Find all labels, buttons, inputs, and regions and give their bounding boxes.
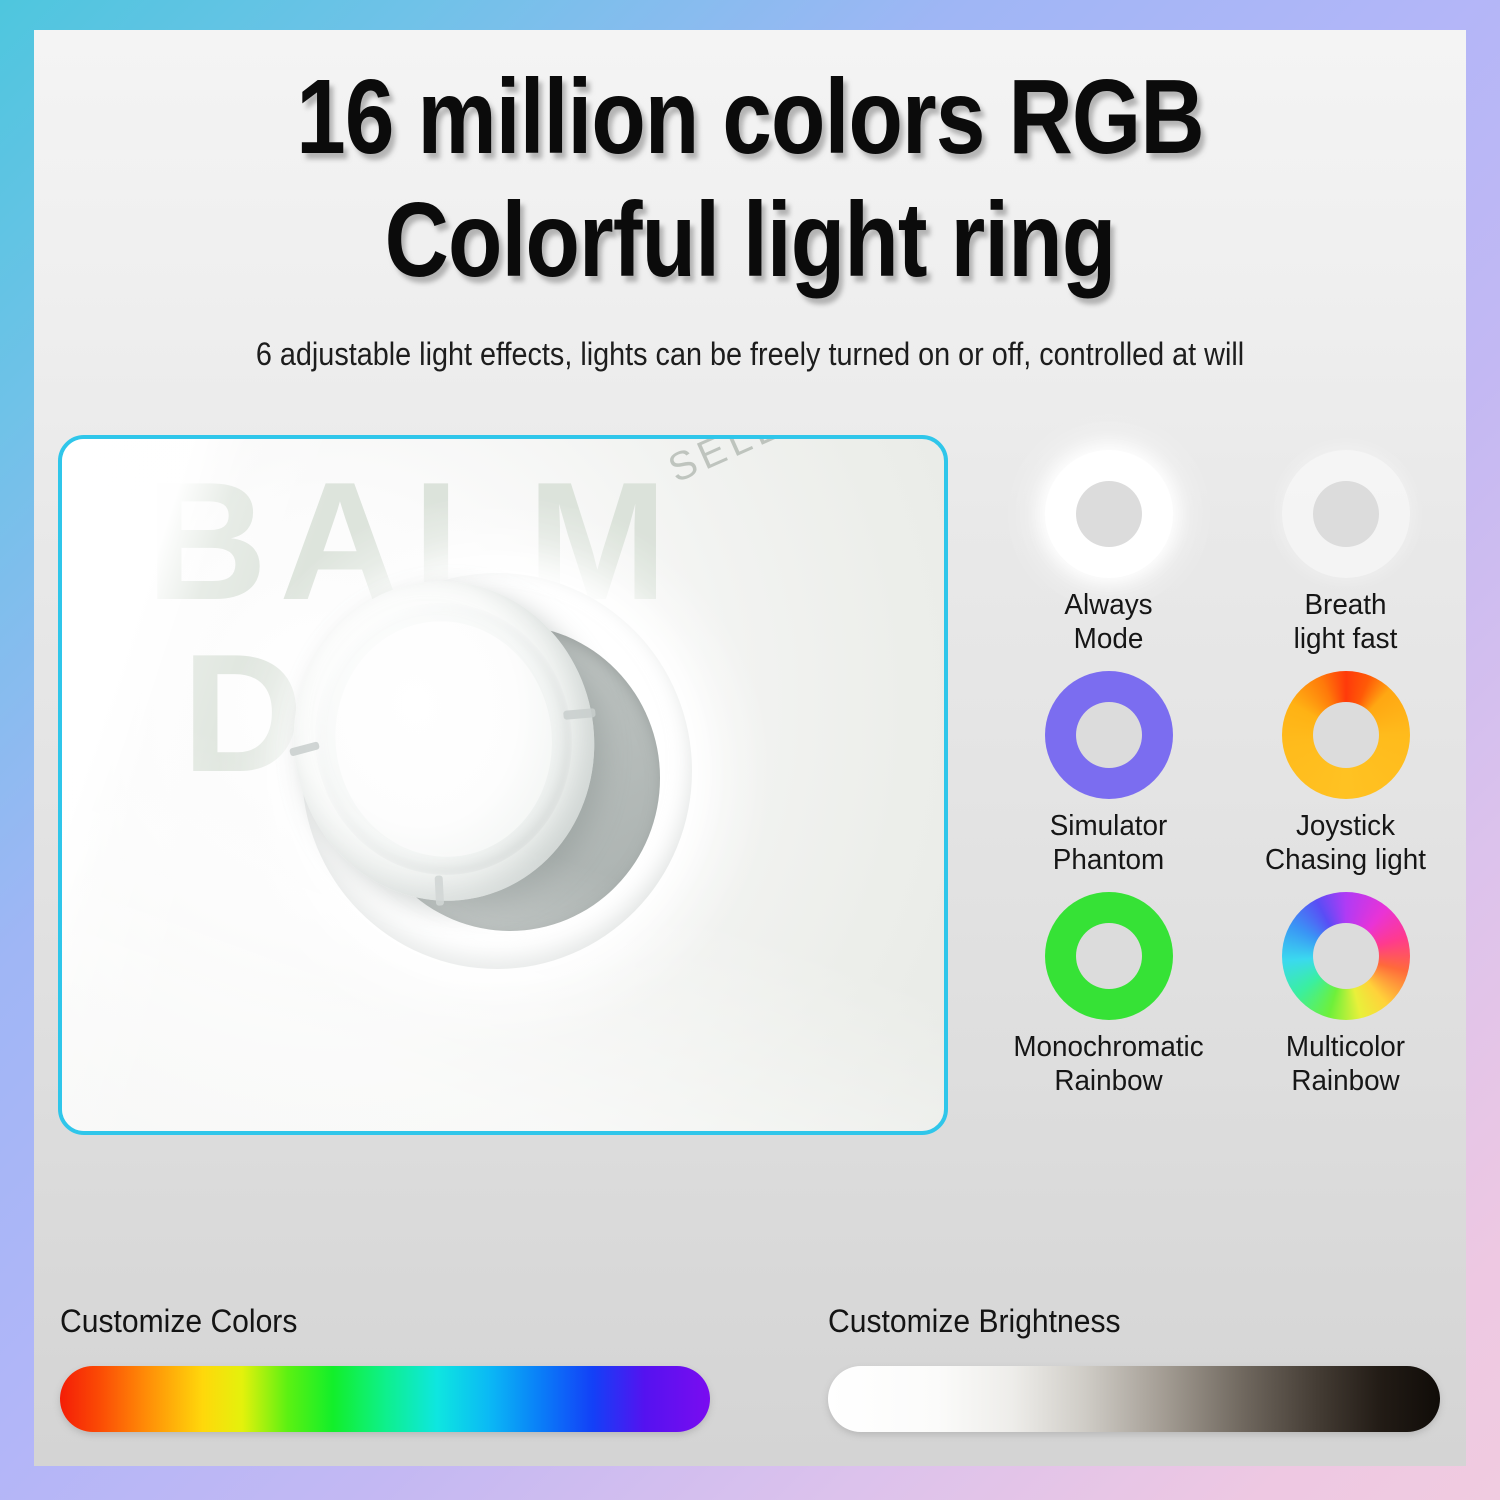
joystick-chasing-ring-icon [1282, 671, 1410, 799]
joystick-light-ring-photo [280, 557, 710, 987]
gradient-frame: 16 million colors RGB Colorful light rin… [0, 0, 1500, 1500]
mode-multicolor-rainbow[interactable]: Multicolor Rainbow [1229, 883, 1462, 1098]
customization-sliders: Customize Colors Customize Brightness [34, 1303, 1466, 1432]
always-ring-box [1036, 441, 1182, 587]
product-feature-card: 16 million colors RGB Colorful light rin… [34, 30, 1466, 1466]
mono-ring-box [1036, 883, 1182, 1029]
mode-breath-label-2: light fast [1234, 623, 1458, 655]
mode-phantom-label-1: Simulator [997, 810, 1221, 842]
headline-line-1: 16 million colors RGB [149, 56, 1352, 179]
mode-chasing-label-2: Chasing light [1234, 844, 1458, 876]
light-effect-mode-grid: Always Mode Breath light fast Simulator … [992, 441, 1462, 1098]
subtitle: 6 adjustable light effects, lights can b… [106, 336, 1395, 373]
simulator-phantom-ring-icon [1045, 671, 1173, 799]
thumbstick-rim [296, 585, 591, 894]
mode-always[interactable]: Always Mode [992, 441, 1225, 656]
customize-brightness-group: Customize Brightness [828, 1303, 1440, 1432]
mode-chasing-label-1: Joystick [1234, 810, 1458, 842]
middle-section: BALM DON SELECT [34, 435, 1466, 1165]
headline-line-2: Colorful light ring [149, 179, 1352, 302]
monochromatic-rainbow-ring-icon [1045, 892, 1173, 1020]
product-photo-panel: BALM DON SELECT [58, 435, 948, 1135]
mode-always-label-2: Mode [997, 623, 1221, 655]
mode-simulator-phantom[interactable]: Simulator Phantom [992, 662, 1225, 877]
multi-ring-box [1273, 883, 1419, 1029]
breath-light-ring-icon [1282, 450, 1410, 578]
mode-breath-label-1: Breath [1234, 589, 1458, 621]
mode-multi-label-2: Rainbow [1234, 1065, 1458, 1097]
brightness-slider[interactable] [828, 1366, 1440, 1432]
mode-breath[interactable]: Breath light fast [1229, 441, 1462, 656]
customize-colors-group: Customize Colors [60, 1303, 828, 1432]
select-watermark: SELECT [662, 435, 850, 492]
color-spectrum-slider[interactable] [60, 1366, 710, 1432]
always-mode-ring-icon [1045, 450, 1173, 578]
mode-joystick-chasing[interactable]: Joystick Chasing light [1229, 662, 1462, 877]
customize-colors-label: Customize Colors [60, 1303, 782, 1340]
mode-mono-label-2: Rainbow [997, 1065, 1221, 1097]
mode-multi-label-1: Multicolor [1234, 1031, 1458, 1063]
thumbstick-notch-bottom [435, 875, 445, 905]
thumbstick-notch-right [563, 708, 596, 720]
breath-ring-box [1273, 441, 1419, 587]
thumbstick-notch-left [289, 741, 320, 756]
page-title: 16 million colors RGB Colorful light rin… [34, 30, 1466, 302]
mode-always-label-1: Always [997, 589, 1221, 621]
mode-monochromatic-rainbow[interactable]: Monochromatic Rainbow [992, 883, 1225, 1098]
mode-phantom-label-2: Phantom [997, 844, 1221, 876]
customize-brightness-label: Customize Brightness [828, 1303, 1403, 1340]
multicolor-rainbow-ring-icon [1282, 892, 1410, 1020]
phantom-ring-box [1036, 662, 1182, 808]
thumbstick-face [319, 605, 569, 872]
mode-mono-label-1: Monochromatic [997, 1031, 1221, 1063]
chasing-ring-box [1273, 662, 1419, 808]
